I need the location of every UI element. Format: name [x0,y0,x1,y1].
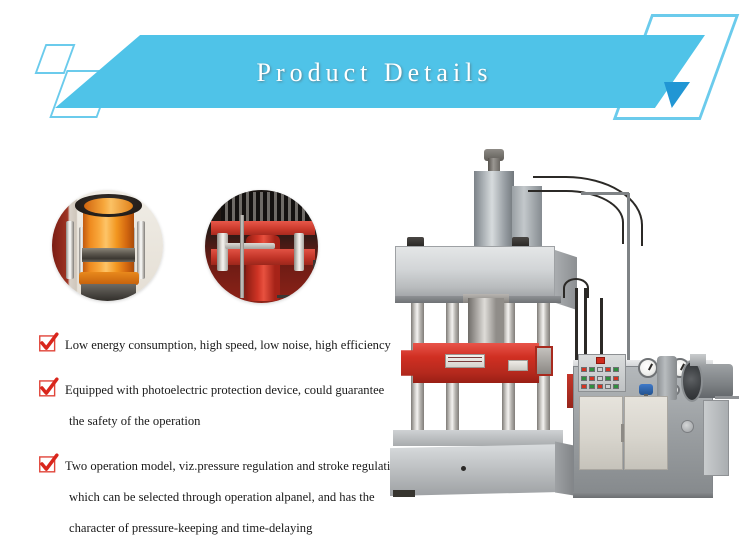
control-button-green[interactable] [613,384,619,389]
side-rod [715,396,739,399]
slide-side-box [535,346,553,376]
cabinet-door-handle[interactable] [621,424,624,442]
list-item-label: Equipped with photoelectric protection d… [65,375,414,437]
list-item: Low energy consumption, high speed, low … [34,330,414,361]
secondary-label-plate [508,360,528,371]
control-button-row[interactable] [581,376,623,381]
cylinder-top-rod [488,158,500,172]
feature-line: the safety of the operation [65,406,414,437]
control-button-row[interactable] [581,384,623,389]
pressure-gauge-1 [638,358,658,378]
upper-beam-crown [395,246,555,298]
pipe-horizontal [581,192,629,195]
control-button-green[interactable] [589,384,595,389]
chrome-column-left [66,221,74,279]
motor-terminal-box [690,354,706,366]
page-title: Product Details [0,58,749,88]
feature-line: Equipped with photoelectric protection d… [65,383,384,397]
machine-fins [221,192,309,221]
product-photo-slide-closeup [205,190,318,303]
gauge-needle [648,363,652,370]
checkbox-check-icon [38,453,59,474]
checkbox-check-icon [38,377,59,398]
list-item: Two operation model, viz.pressure regula… [34,451,414,544]
main-hydraulic-cylinder [474,171,514,247]
list-item-label: Two operation model, viz.pressure regula… [65,451,414,544]
machine-bed-base [390,444,566,496]
control-button-red[interactable] [597,384,603,389]
bolt-left [217,233,227,271]
ram-piston [468,298,504,350]
control-button-green[interactable] [605,376,611,381]
hydraulic-pump [657,356,677,400]
feature-line: character of pressure-keeping and time-d… [65,513,414,544]
motor-fan-cover [681,360,703,402]
control-button-red[interactable] [581,367,587,372]
nameplate-text-lines [448,357,482,365]
control-button-gray[interactable] [597,367,603,372]
control-button-red[interactable] [605,367,611,372]
hydraulic-press-photo [385,138,749,534]
chrome-column-right [137,221,145,279]
cylinder-lower-shadow [81,284,137,301]
cabinet-door-right[interactable] [624,396,668,470]
control-button-green[interactable] [589,367,595,372]
bed-top-surface [393,430,563,446]
control-button-green[interactable] [581,376,587,381]
control-button-red[interactable] [581,384,587,389]
control-button-gray[interactable] [605,384,611,389]
power-unit-base [573,492,713,498]
emergency-stop-button[interactable] [596,357,605,364]
machine-nameplate [445,354,485,368]
cross-bar [225,243,275,249]
page-header: Product Details [0,0,749,120]
cabinet-door-left[interactable] [579,396,623,470]
feature-line: Two operation model, viz.pressure regula… [65,459,403,473]
base-bolt-hole [461,466,466,471]
feature-line: which can be selected through operation … [65,482,414,513]
vertical-rod [240,215,244,299]
control-button-row[interactable] [581,367,623,372]
tank-filler-cap [681,420,694,433]
power-unit-side-panel [703,400,729,476]
list-item: Equipped with photoelectric protection d… [34,375,414,437]
cylinder-steel-band [82,248,135,262]
control-button-red[interactable] [589,376,595,381]
control-button-red[interactable] [613,376,619,381]
feature-list: Low energy consumption, high speed, low … [34,330,414,558]
control-button-green[interactable] [613,367,619,372]
list-item-label: Low energy consumption, high speed, low … [65,330,414,361]
feature-line: Low energy consumption, high speed, low … [65,338,391,352]
checkbox-check-icon [38,332,59,353]
product-photo-cylinder-closeup [52,190,163,301]
control-button-gray[interactable] [597,376,603,381]
base-foot-shoe [393,490,415,497]
